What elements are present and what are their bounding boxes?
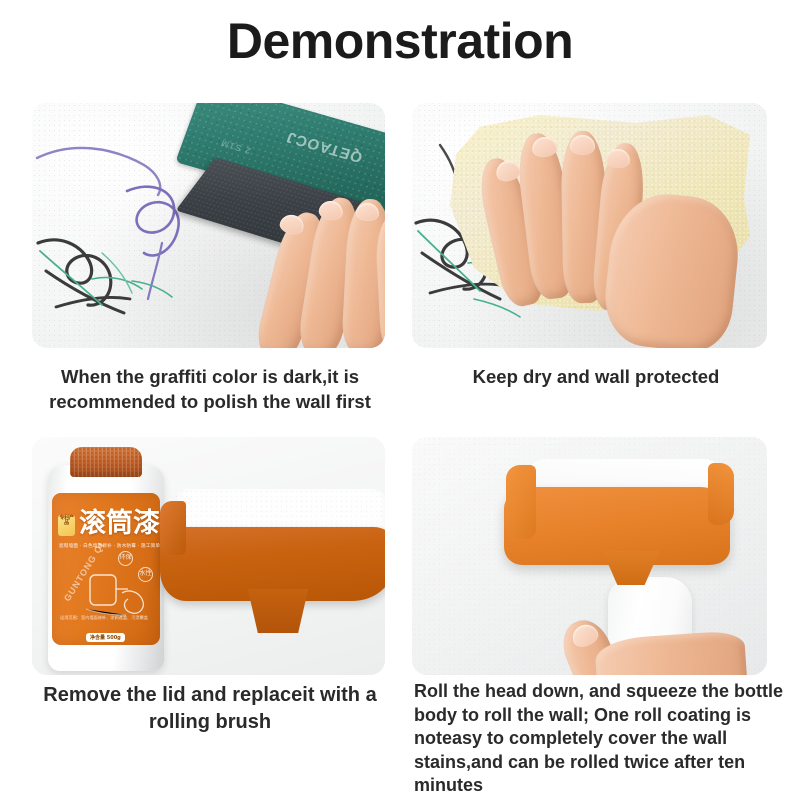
label-badge-text: 专利产品 xyxy=(59,516,74,535)
product-label: 专利产品 滚筒漆 遮瑕墙面 · 白色墙面修补 · 防水防霉 · 施工简单 GUN… xyxy=(52,493,160,645)
page-title: Demonstration xyxy=(0,14,800,69)
label-net-weight: 净含量 500g xyxy=(86,633,125,642)
paint-bottle: 专利产品 滚筒漆 遮瑕墙面 · 白色墙面修补 · 防水防霉 · 施工简单 GUN… xyxy=(46,443,166,671)
roller-frame-left-arm xyxy=(506,465,536,539)
step-2-caption: Keep dry and wall protected xyxy=(412,365,780,390)
step-4-caption: Roll the head down, and squeeze the bott… xyxy=(414,680,786,798)
sanding-block-print: QETAOCJ xyxy=(284,128,365,166)
step-3-caption: Remove the lid and replaceit with a roll… xyxy=(24,682,396,735)
infographic-page: Demonstration QETAOCJ 2 S1M xyxy=(0,0,800,800)
bottle-cap xyxy=(70,447,142,477)
roller-frame-right-arm xyxy=(708,463,734,525)
step-3-image: 专利产品 滚筒漆 遮瑕墙面 · 白色墙面修补 · 防水防霉 · 施工简单 GUN… xyxy=(32,437,385,675)
step-4-image xyxy=(412,437,767,675)
fingernail-3 xyxy=(570,135,595,155)
label-mark-2-text: 水性 xyxy=(139,571,151,577)
label-mark-1-text: 环保 xyxy=(119,555,131,561)
roller-frame-left-arm xyxy=(160,501,186,555)
step-2-image xyxy=(412,103,767,348)
label-mark-2: 水性 xyxy=(138,567,153,582)
roller-stem xyxy=(600,551,662,585)
label-footer-text: 适用范围：室内墙面修补、涂鸦遮盖、污渍覆盖 xyxy=(60,615,152,621)
label-badge: 专利产品 xyxy=(58,515,75,536)
label-mark-1: 环保 xyxy=(118,551,133,566)
roller-head-assembly xyxy=(504,459,734,599)
step-1-image: QETAOCJ 2 S1M xyxy=(32,103,385,348)
roller-stem xyxy=(242,589,314,633)
label-product-name: 滚筒漆 xyxy=(79,510,160,537)
roller-head-assembly xyxy=(160,489,385,649)
sanding-block-print-small: 2 S1M xyxy=(219,138,252,156)
step-1-caption: When the graffiti color is dark,it is re… xyxy=(24,365,396,414)
